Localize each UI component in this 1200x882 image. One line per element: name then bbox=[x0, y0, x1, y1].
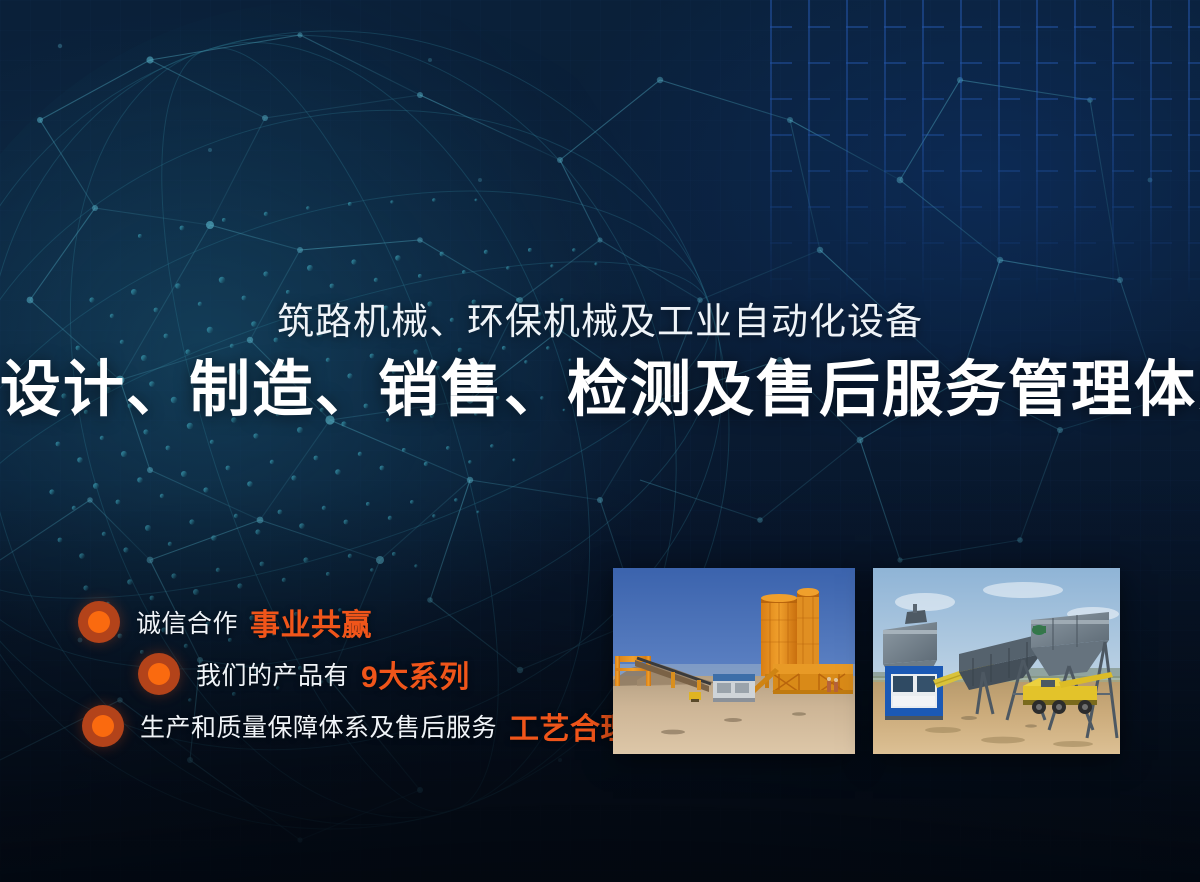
banner-subtitle: 筑路机械、环保机械及工业自动化设备 bbox=[0, 300, 1200, 344]
bullet-dot-icon bbox=[78, 601, 120, 643]
promo-banner: 筑路机械、环保机械及工业自动化设备 设计、制造、销售、检测及售后服务管理体系 诚… bbox=[0, 0, 1200, 882]
list-item: 我们的产品有 9大系列 bbox=[0, 648, 580, 700]
bullet-accent-label: 事业共赢 bbox=[250, 600, 372, 644]
bullet-label: 诚信合作 bbox=[136, 604, 238, 640]
banner-title: 设计、制造、销售、检测及售后服务管理体系 bbox=[0, 356, 1200, 423]
list-item: 诚信合作 事业共赢 bbox=[0, 596, 580, 648]
bullet-label: 我们的产品有 bbox=[196, 656, 349, 692]
bullet-dot-icon bbox=[138, 653, 180, 695]
list-item: 生产和质量保障体系及售后服务 工艺合理 bbox=[0, 700, 580, 752]
bullet-accent-label: 9大系列 bbox=[361, 652, 470, 696]
headline-block: 筑路机械、环保机械及工业自动化设备 设计、制造、销售、检测及售后服务管理体系 bbox=[0, 300, 1200, 423]
concrete-batching-plant-photo bbox=[613, 568, 855, 754]
bullet-label: 生产和质量保障体系及售后服务 bbox=[140, 708, 497, 744]
feature-bullet-list: 诚信合作 事业共赢 我们的产品有 9大系列 生产和质量保障体系及售后服务 工艺合… bbox=[0, 596, 580, 752]
mobile-batching-plant-photo bbox=[873, 568, 1120, 754]
bullet-dot-icon bbox=[82, 705, 124, 747]
